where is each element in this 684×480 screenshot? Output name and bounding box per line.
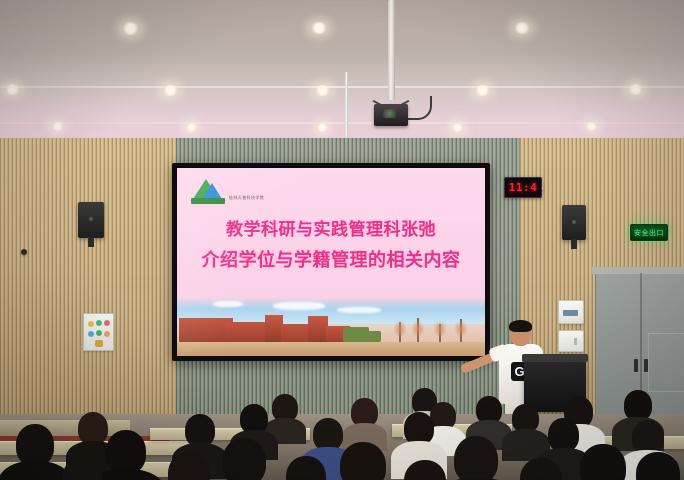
slide-campus-photo <box>177 298 485 356</box>
door-panel-line <box>648 333 649 391</box>
head <box>222 438 266 480</box>
slide-title-line-1: 教学科研与实践管理科张弛 <box>177 218 485 242</box>
logo-peak-blue <box>202 183 222 199</box>
cloud <box>273 302 325 310</box>
downlight <box>121 22 140 35</box>
emergency-exit-sign: 安全出口 <box>630 224 668 241</box>
downlight <box>310 22 328 34</box>
downlight <box>474 85 491 96</box>
head <box>16 424 54 466</box>
projector-mount-pole <box>388 0 395 100</box>
logo-base <box>191 198 225 204</box>
slide-surface: 桂林天普科技学院 教学科研与实践管理科张弛 介绍学位与学籍管理的相关内容 <box>177 168 485 356</box>
downlight <box>4 84 21 95</box>
logo-caption: 桂林天普科技学院 <box>229 195 264 204</box>
door-handle[interactable] <box>644 359 648 372</box>
campus-building <box>308 316 328 344</box>
photo-ground <box>177 342 485 356</box>
door-panel-line <box>648 391 684 392</box>
campus-foliage <box>363 331 381 342</box>
clock-digits: 11:4 <box>509 181 538 194</box>
downlight <box>585 122 598 131</box>
ceiling-seam <box>0 86 684 88</box>
downlight <box>513 22 531 34</box>
downlight <box>627 84 644 95</box>
ceiling-seam <box>0 122 684 124</box>
head <box>580 444 626 480</box>
head <box>106 430 146 474</box>
tree <box>460 319 462 344</box>
wall-control-panel[interactable] <box>558 300 584 324</box>
downlight <box>314 85 331 96</box>
downlight <box>162 85 179 96</box>
lecture-hall-photo: 桂林天普科技学院 教学科研与实践管理科张弛 介绍学位与学籍管理的相关内容 <box>0 0 684 480</box>
downlight <box>51 122 64 131</box>
wall-speaker-right <box>562 205 586 240</box>
left-wood-wall <box>0 138 176 438</box>
downlight <box>451 123 464 132</box>
led-wall-clock: 11:4 <box>504 177 542 198</box>
wall-speaker-left <box>78 202 104 238</box>
head <box>548 418 579 452</box>
wall-sensor-icon <box>21 249 27 255</box>
university-mountain-logo-icon: 桂林天普科技学院 <box>191 178 264 204</box>
door-jamb <box>592 267 684 274</box>
presenter-hair <box>509 320 532 332</box>
head <box>454 436 498 480</box>
door-panel-line <box>648 333 684 334</box>
downlight <box>185 123 198 132</box>
door-handle[interactable] <box>634 359 638 372</box>
slide-title-block: 教学科研与实践管理科张弛 介绍学位与学籍管理的相关内容 <box>177 218 485 274</box>
cloud <box>337 307 381 313</box>
cloud <box>213 301 243 307</box>
tree <box>417 318 419 344</box>
ceiling-projector-icon <box>374 104 408 126</box>
head <box>632 420 664 454</box>
wall-switch-plate[interactable] <box>558 330 584 352</box>
tree <box>399 322 401 344</box>
campus-building <box>281 324 311 344</box>
downlight <box>316 123 329 132</box>
slide-title-line-2: 介绍学位与学籍管理的相关内容 <box>177 248 485 274</box>
safety-notice-placard <box>83 313 114 351</box>
ceiling <box>0 0 684 140</box>
logo-mark <box>191 178 225 204</box>
projection-screen: 桂林天普科技学院 教学科研与实践管理科张弛 介绍学位与学籍管理的相关内容 <box>172 163 490 361</box>
tree <box>439 324 441 344</box>
exit-sign-label: 安全出口 <box>634 228 664 238</box>
head <box>340 442 386 480</box>
